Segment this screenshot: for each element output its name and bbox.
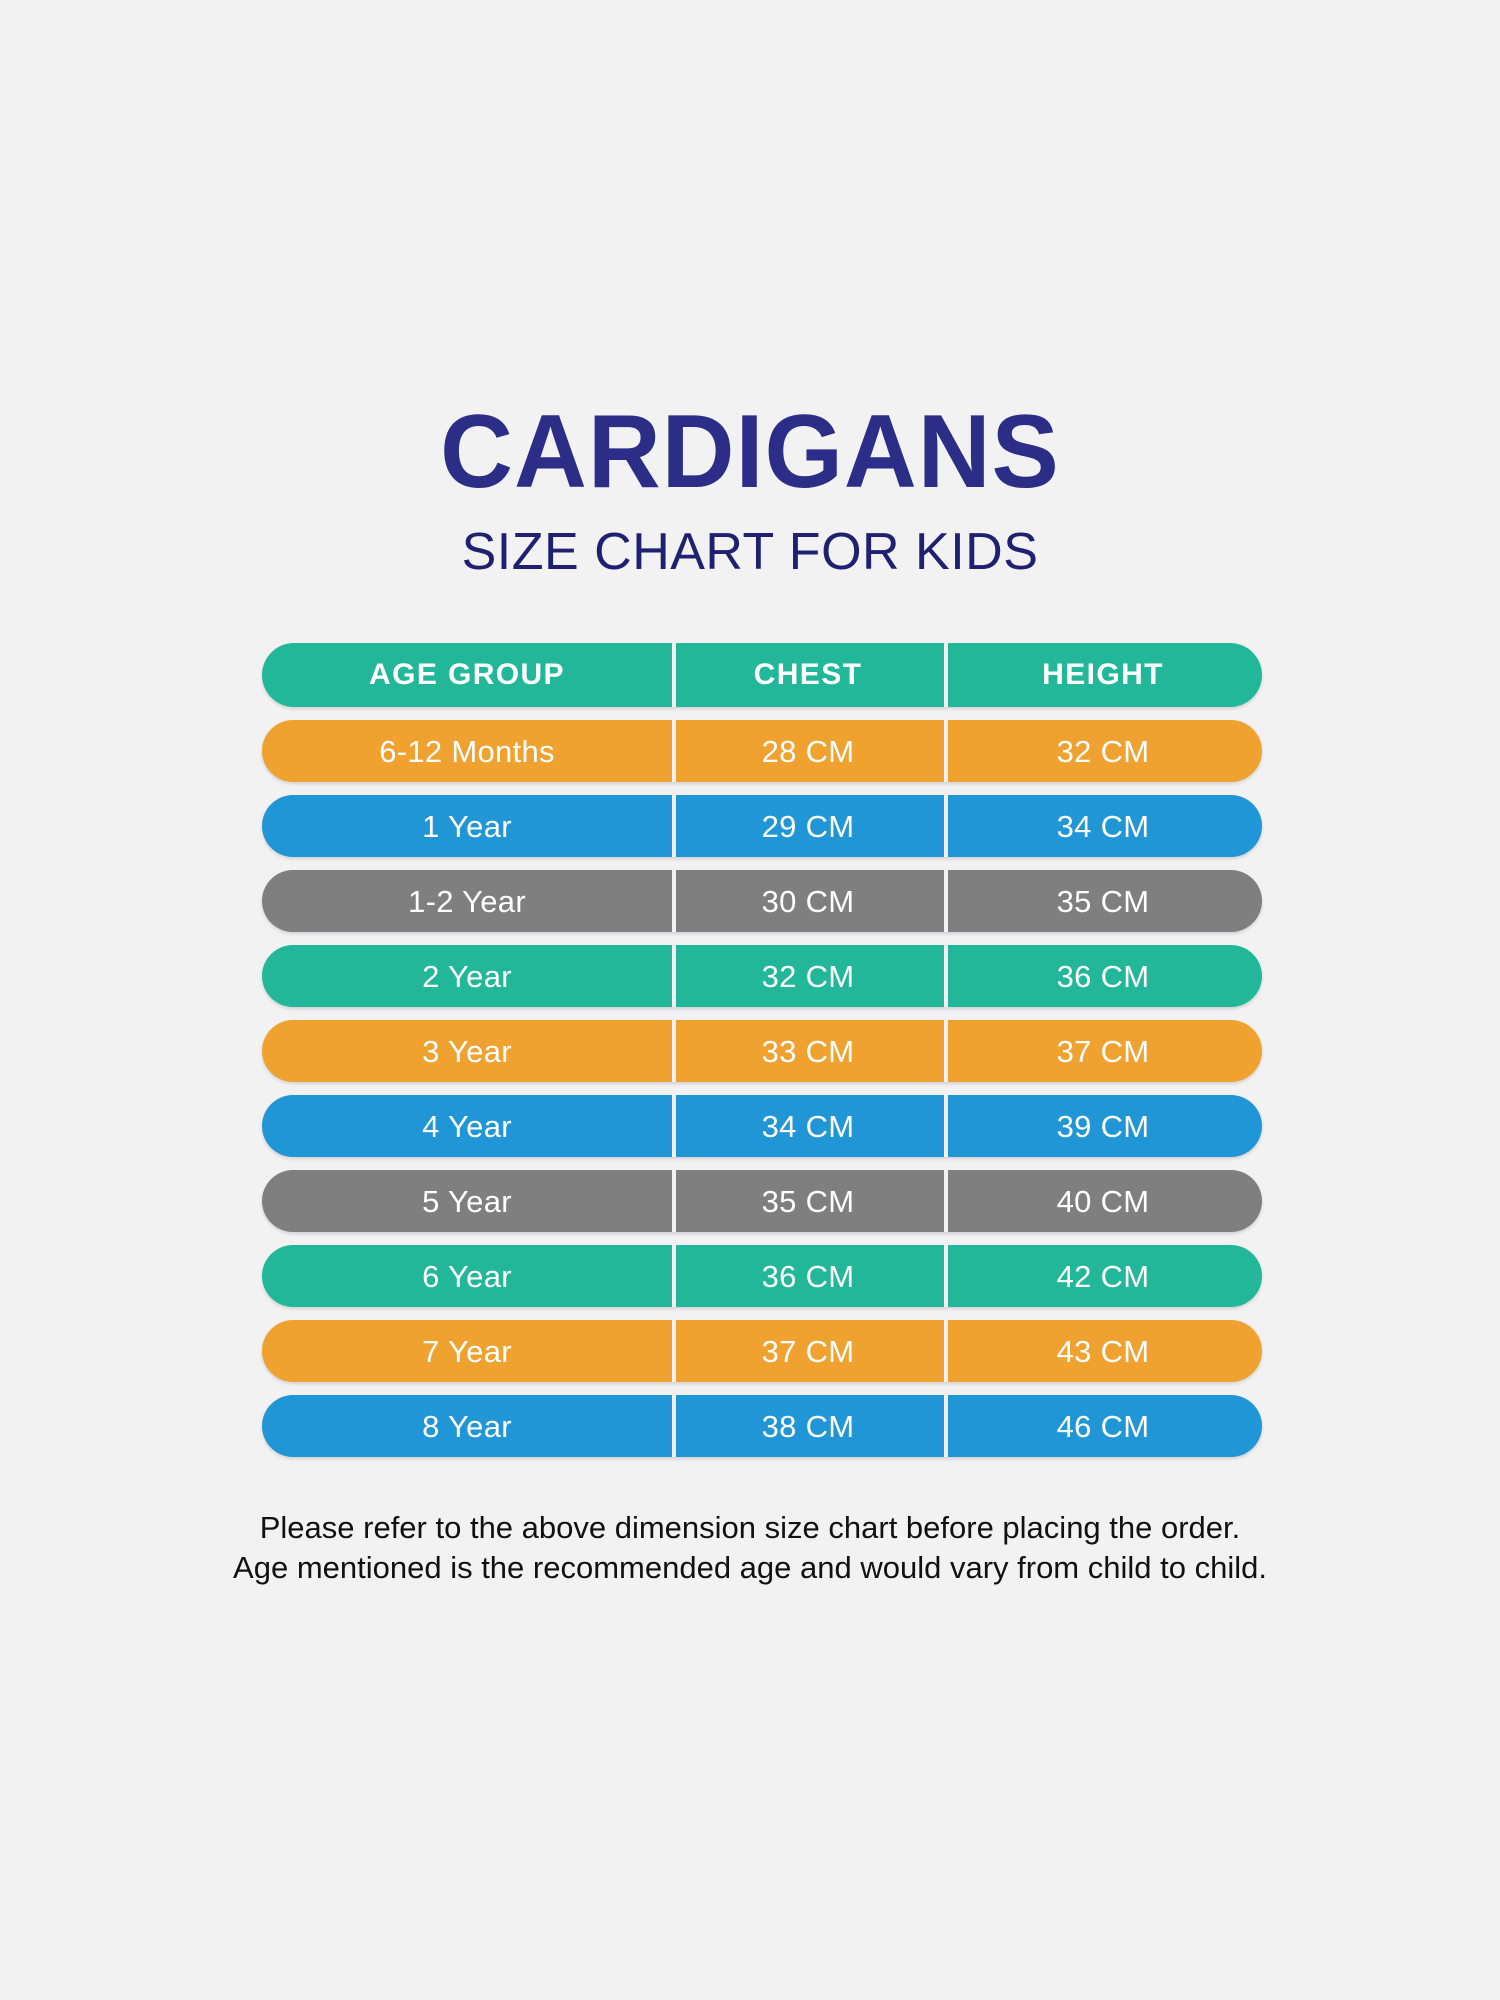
chest-cell-value: 30 CM (762, 886, 855, 917)
height-cell: 40 CM (944, 1170, 1262, 1232)
column-header-age-group: AGE GROUP (262, 643, 672, 707)
chest-cell: 30 CM (672, 870, 944, 932)
height-cell-value: 37 CM (1057, 1036, 1150, 1067)
table-row: 2 Year32 CM36 CM (262, 945, 1262, 1007)
height-cell-value: 43 CM (1057, 1336, 1150, 1367)
height-cell-value: 39 CM (1057, 1111, 1150, 1142)
chest-cell: 29 CM (672, 795, 944, 857)
chest-cell: 37 CM (672, 1320, 944, 1382)
height-cell: 39 CM (944, 1095, 1262, 1157)
height-cell: 42 CM (944, 1245, 1262, 1307)
age-cell-value: 2 Year (422, 961, 512, 992)
height-cell-value: 32 CM (1057, 736, 1150, 767)
age-cell-value: 5 Year (422, 1186, 512, 1217)
page-subtitle: SIZE CHART FOR KIDS (0, 526, 1500, 578)
age-cell: 2 Year (262, 945, 672, 1007)
table-row: 6 Year36 CM42 CM (262, 1245, 1262, 1307)
chest-cell: 34 CM (672, 1095, 944, 1157)
table-row: 1-2 Year30 CM35 CM (262, 870, 1262, 932)
table-row: 7 Year37 CM43 CM (262, 1320, 1262, 1382)
table-row: 4 Year34 CM39 CM (262, 1095, 1262, 1157)
chest-cell-value: 37 CM (762, 1336, 855, 1367)
column-header-height-label: HEIGHT (1042, 660, 1164, 690)
table-row: 5 Year35 CM40 CM (262, 1170, 1262, 1232)
age-cell-value: 6 Year (422, 1261, 512, 1292)
chest-cell-value: 38 CM (762, 1411, 855, 1442)
height-cell: 36 CM (944, 945, 1262, 1007)
age-cell: 8 Year (262, 1395, 672, 1457)
chest-cell-value: 28 CM (762, 736, 855, 767)
page-title: CARDIGANS (23, 400, 1478, 504)
column-header-chest-label: CHEST (754, 660, 863, 690)
size-chart-table: AGE GROUPCHESTHEIGHT6-12 Months28 CM32 C… (262, 643, 1262, 1470)
column-header-chest: CHEST (672, 643, 944, 707)
height-cell-value: 36 CM (1057, 961, 1150, 992)
column-header-height: HEIGHT (944, 643, 1262, 707)
height-cell: 37 CM (944, 1020, 1262, 1082)
header-block: CARDIGANS SIZE CHART FOR KIDS (0, 400, 1500, 578)
chest-cell-value: 32 CM (762, 961, 855, 992)
chest-cell-value: 36 CM (762, 1261, 855, 1292)
age-cell: 6-12 Months (262, 720, 672, 782)
age-cell-value: 1-2 Year (408, 886, 526, 917)
height-cell: 43 CM (944, 1320, 1262, 1382)
age-cell: 1 Year (262, 795, 672, 857)
height-cell-value: 46 CM (1057, 1411, 1150, 1442)
height-cell-value: 40 CM (1057, 1186, 1150, 1217)
age-cell: 1-2 Year (262, 870, 672, 932)
footer-note: Please refer to the above dimension size… (0, 1508, 1500, 1589)
age-cell-value: 1 Year (422, 811, 512, 842)
age-cell: 3 Year (262, 1020, 672, 1082)
chest-cell-value: 29 CM (762, 811, 855, 842)
table-row: 3 Year33 CM37 CM (262, 1020, 1262, 1082)
column-header-age-group-label: AGE GROUP (369, 660, 565, 690)
age-cell: 6 Year (262, 1245, 672, 1307)
height-cell: 32 CM (944, 720, 1262, 782)
chest-cell-value: 35 CM (762, 1186, 855, 1217)
chest-cell: 38 CM (672, 1395, 944, 1457)
chest-cell: 35 CM (672, 1170, 944, 1232)
chest-cell: 33 CM (672, 1020, 944, 1082)
age-cell-value: 8 Year (422, 1411, 512, 1442)
height-cell: 35 CM (944, 870, 1262, 932)
chest-cell: 32 CM (672, 945, 944, 1007)
footer-note-line-1: Please refer to the above dimension size… (0, 1508, 1500, 1548)
age-cell-value: 3 Year (422, 1036, 512, 1067)
height-cell: 46 CM (944, 1395, 1262, 1457)
chest-cell-value: 33 CM (762, 1036, 855, 1067)
size-chart-page: CARDIGANS SIZE CHART FOR KIDS AGE GROUPC… (0, 0, 1500, 2000)
age-cell: 7 Year (262, 1320, 672, 1382)
age-cell-value: 4 Year (422, 1111, 512, 1142)
footer-note-line-2: Age mentioned is the recommended age and… (0, 1548, 1500, 1588)
table-row: 1 Year29 CM34 CM (262, 795, 1262, 857)
age-cell-value: 6-12 Months (379, 736, 555, 767)
height-cell-value: 42 CM (1057, 1261, 1150, 1292)
height-cell: 34 CM (944, 795, 1262, 857)
age-cell-value: 7 Year (422, 1336, 512, 1367)
age-cell: 4 Year (262, 1095, 672, 1157)
chest-cell: 36 CM (672, 1245, 944, 1307)
age-cell: 5 Year (262, 1170, 672, 1232)
table-header-row: AGE GROUPCHESTHEIGHT (262, 643, 1262, 707)
height-cell-value: 34 CM (1057, 811, 1150, 842)
table-row: 6-12 Months28 CM32 CM (262, 720, 1262, 782)
chest-cell-value: 34 CM (762, 1111, 855, 1142)
height-cell-value: 35 CM (1057, 886, 1150, 917)
table-row: 8 Year38 CM46 CM (262, 1395, 1262, 1457)
chest-cell: 28 CM (672, 720, 944, 782)
